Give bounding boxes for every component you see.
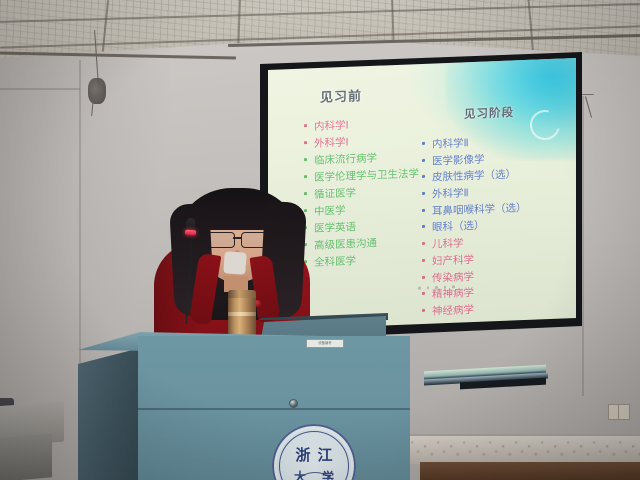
baseboard — [396, 436, 640, 464]
slide-bullet-item: 耳鼻咽喉科学（选） — [422, 203, 527, 218]
slide-bullet-label: 医学伦理学与卫生法学 — [314, 169, 419, 184]
slide-bullet-item: 高级医患沟通 — [304, 237, 419, 252]
slide-bullet-item: 循证医学 — [304, 186, 419, 201]
slide-bullet-item: 儿科学 — [422, 236, 527, 251]
slide-bullet-label: 儿科学 — [432, 239, 464, 251]
slide-bullet-item: 医学伦理学与卫生法学 — [304, 169, 419, 184]
hair-fringe-shade — [204, 216, 270, 230]
podium-asset-label: 设备编号 — [306, 339, 344, 348]
bullet-dot-icon — [422, 292, 425, 295]
slide-bullet-item: 中医学 — [304, 203, 419, 218]
seal-line-1: 浙江 — [272, 444, 356, 465]
slide-heading-right: 见习阶段 — [464, 104, 514, 122]
slide-bullet-item: 外科学Ⅰ — [304, 135, 419, 150]
slide-bullet-label: 高级医患沟通 — [314, 238, 377, 251]
bullet-dot-icon — [422, 159, 425, 162]
slide-bullet-label: 临床流行病学 — [314, 153, 377, 166]
slide-bullet-label: 外科学Ⅰ — [314, 137, 349, 149]
bullet-dot-icon — [422, 225, 425, 228]
glasses-bridge — [233, 237, 241, 239]
slide-bullet-item: 医学影像学 — [422, 153, 527, 168]
slide-bullet-label: 外科学Ⅱ — [432, 188, 469, 200]
bullet-dot-icon — [422, 175, 425, 178]
slide-bullet-label: 妇产科学 — [432, 255, 474, 267]
slide-list-right: 内科学Ⅱ医学影像学皮肤性病学（选）外科学Ⅱ耳鼻咽喉科学（选）眼科（选）儿科学妇产… — [422, 136, 527, 324]
podium-door-seam — [138, 408, 410, 410]
wall-seam-horizontal — [0, 88, 80, 90]
slide-bullet-item: 妇产科学 — [422, 253, 527, 268]
bullet-dot-icon — [422, 275, 425, 278]
slide-bullet-label: 眼科（选） — [432, 221, 485, 234]
footer-dot-icon — [452, 285, 455, 288]
slide-bullet-item: 全科医学 — [304, 254, 419, 269]
podium-lock-icon[interactable] — [290, 400, 297, 407]
lecture-hall-photo: 见习前 见习阶段 内科学Ⅰ外科学Ⅰ临床流行病学医学伦理学与卫生法学循证医学中医学… — [0, 0, 640, 480]
shirt-collar — [223, 251, 246, 274]
cable-bundle — [88, 78, 106, 104]
thermos-flask — [228, 294, 256, 340]
wall-outlet — [608, 404, 630, 420]
slide-bullet-label: 循证医学 — [314, 188, 356, 200]
footer-dot-icon — [427, 286, 430, 289]
footer-dot-icon — [435, 286, 438, 289]
slide-list-left: 内科学Ⅰ外科学Ⅰ临床流行病学医学伦理学与卫生法学循证医学中医学医学英语高级医患沟… — [304, 118, 419, 275]
bullet-dot-icon — [304, 124, 307, 127]
slide-bullet-item: 外科学Ⅱ — [422, 186, 527, 201]
microphone-led-indicator — [185, 230, 196, 236]
slide-bullet-label: 精神病学 — [432, 288, 474, 300]
thermos-cap — [228, 290, 256, 298]
slide-bullet-label: 内科学Ⅰ — [314, 120, 349, 132]
slide-bullet-label: 传染病学 — [432, 272, 474, 284]
slide-bullet-item: 内科学Ⅱ — [422, 136, 527, 151]
bullet-dot-icon — [304, 158, 307, 161]
slide-bullet-item: 医学英语 — [304, 220, 419, 235]
slide-bullet-label: 医学英语 — [314, 222, 356, 234]
slide-bullet-label: 皮肤性病学（选） — [432, 170, 516, 184]
bullet-dot-icon — [422, 209, 425, 212]
bullet-dot-icon — [422, 192, 425, 195]
slide-bullet-item: 临床流行病学 — [304, 152, 419, 167]
slide-bullet-label: 全科医学 — [314, 256, 356, 268]
bullet-dot-icon — [304, 141, 307, 144]
bullet-dot-icon — [422, 142, 425, 145]
bullet-dot-icon — [422, 242, 425, 245]
glasses — [206, 232, 268, 247]
slide-bullet-item: 皮肤性病学（选） — [422, 169, 527, 184]
slide-heading-left: 见习前 — [320, 85, 362, 106]
bench-base — [0, 433, 52, 480]
slide-bullet-item: 内科学Ⅰ — [304, 118, 419, 133]
slide-bullet-item: 神经病学 — [422, 303, 527, 318]
floor — [420, 462, 640, 480]
podium-side — [78, 348, 140, 480]
footer-dot-icon — [418, 287, 421, 290]
wall-seam-right — [582, 96, 584, 396]
slide-bullet-item: 传染病学 — [422, 269, 527, 284]
bullet-dot-icon — [422, 259, 425, 262]
slide-bullet-label: 耳鼻咽喉科学（选） — [432, 203, 527, 217]
slide-bullet-item: 眼科（选） — [422, 219, 527, 234]
footer-dot-icon — [444, 286, 447, 289]
slide-bullet-label: 内科学Ⅱ — [432, 138, 469, 150]
bullet-dot-icon — [422, 309, 425, 312]
bullet-dot-icon — [304, 175, 307, 178]
thermos-highlight-band — [228, 312, 256, 316]
slide-bullet-label: 医学影像学 — [432, 154, 485, 167]
slide-bullet-label: 神经病学 — [432, 305, 474, 317]
